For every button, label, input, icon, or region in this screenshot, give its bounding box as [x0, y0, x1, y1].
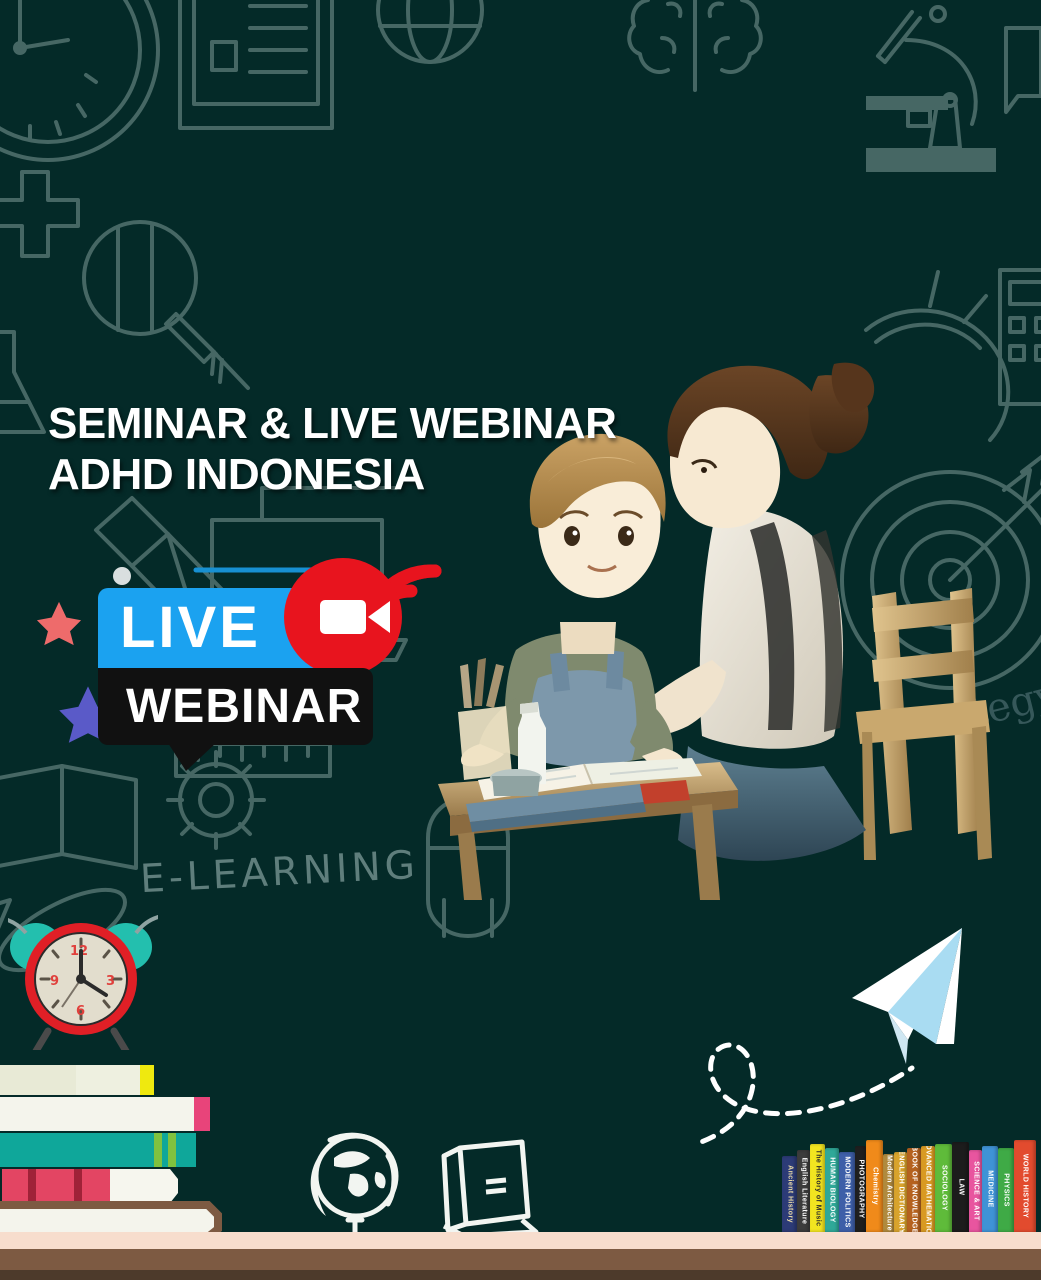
svg-text:6: 6: [76, 1004, 85, 1019]
calculator-doodle: [1000, 270, 1041, 404]
globe-and-book-chalk: [300, 1120, 560, 1245]
shelf-book: SOCIOLOGY: [935, 1144, 952, 1232]
speech-bubble-doodle: [1006, 28, 1041, 112]
pencil-cup: [458, 658, 512, 780]
headline-line-2: ADHD INDONESIA: [48, 449, 616, 500]
shelf-book-title: PHYSICS: [1003, 1173, 1010, 1207]
e-learning-chalk-text: E-LEARNING: [139, 843, 420, 903]
book-stack-item-1: [0, 1065, 154, 1095]
clipboard-doodle: [180, 0, 332, 128]
shelf-book: Ancient History: [782, 1156, 797, 1232]
shelf-book-title: WORLD HISTORY: [1022, 1154, 1029, 1218]
magnifying-glass-doodle: [84, 222, 248, 388]
badge-live-label: LIVE: [98, 599, 261, 657]
shelf-book-title: HUMAN BIOLOGY: [829, 1157, 836, 1222]
shelf-book-title: LAW: [957, 1179, 964, 1196]
svg-text:9: 9: [50, 974, 59, 989]
globe-continents: [334, 1151, 386, 1196]
shelf-book-title: MODERN POLITICS: [844, 1156, 851, 1227]
shelf-book-title: Ancient History: [786, 1165, 793, 1223]
shelf-book-title: ENGLISH DICTIONARY: [897, 1152, 904, 1232]
book-stack-item-4: [2, 1169, 178, 1203]
shelf-book-title: SOCIOLOGY: [940, 1165, 947, 1211]
badge-webinar-bar: WEBINAR: [98, 668, 373, 745]
alarm-clock-icon: 12 3 6 9: [8, 915, 158, 1050]
shelf-book: PHYSICS: [998, 1148, 1014, 1232]
shelf-book-title: Modern Architecture: [885, 1155, 892, 1231]
headline-line-1: SEMINAR & LIVE WEBINAR: [48, 399, 616, 448]
badge-speech-tail: [168, 743, 216, 771]
shelf-book-title: Chemistry: [871, 1167, 878, 1205]
shelf-book: WORLD HISTORY: [1014, 1140, 1036, 1232]
brain-doodle: [629, 0, 761, 90]
camera-lens: [368, 601, 390, 633]
book-doodle: [0, 766, 136, 868]
small-pot: [490, 769, 542, 796]
book-stack: [0, 1055, 255, 1235]
shelf-book-title: BOOK OF KNOWLEDGE: [911, 1148, 918, 1232]
shelf-book: ENGLISH DICTIONARY: [894, 1152, 907, 1232]
shelf-book: SCIENCE & ART: [969, 1150, 982, 1232]
book-stack-item-2: [0, 1097, 210, 1131]
shelf-book: MEDICINE: [982, 1146, 998, 1232]
shelf-book: BOOK OF KNOWLEDGE: [907, 1148, 921, 1232]
shelf-book-title: MEDICINE: [987, 1170, 994, 1207]
book-stack-item-5: [0, 1205, 218, 1235]
page-title: SEMINAR & LIVE WEBINAR ADHD INDONESIA: [48, 398, 616, 500]
red-star-icon: [36, 600, 82, 646]
shelf-book: PHOTOGRAPHY: [855, 1146, 866, 1232]
shelf-book: ADVANCED MATHEMATICS: [921, 1146, 935, 1232]
shelf-book-title: SCIENCE & ART: [972, 1161, 979, 1220]
standing-book-icon: [444, 1142, 536, 1236]
shelf-shadow: [0, 1270, 1041, 1280]
shelf-top-surface: [0, 1232, 1041, 1249]
book-stack-item-3: [0, 1133, 196, 1167]
wall-clock-doodle: [0, 0, 158, 160]
shelf-book: HUMAN BIOLOGY: [825, 1148, 839, 1232]
paper-airplane-icon: [700, 920, 1041, 1160]
shelf-book: Chemistry: [866, 1140, 883, 1232]
shelf-book-row: Ancient HistoryEnglish LiteratureThe His…: [782, 1140, 1041, 1232]
shelf-book-title: PHOTOGRAPHY: [857, 1159, 864, 1218]
shelf-book-title: The History of Music: [814, 1150, 821, 1227]
shelf-book: LAW: [952, 1142, 969, 1232]
chair: [856, 588, 992, 860]
shelf-book-title: ADVANCED MATHEMATICS: [925, 1146, 932, 1232]
svg-text:3: 3: [106, 974, 115, 989]
badge-webinar-label: WEBINAR: [98, 683, 362, 731]
shelf-book: Modern Architecture: [883, 1154, 894, 1232]
shelf-book-title: English Literature: [800, 1158, 807, 1225]
globe-doodle: [378, 0, 482, 62]
poster-canvas: rategy: [0, 0, 1041, 1280]
microscope-doodle: [866, 7, 996, 172]
shelf-book: The History of Music: [810, 1144, 825, 1232]
shelf-book: English Literature: [797, 1150, 810, 1232]
shelf-book: MODERN POLITICS: [839, 1152, 855, 1232]
flask-doodle: [0, 332, 44, 432]
camera-body: [320, 600, 366, 634]
plus-sign-doodle: [0, 172, 78, 256]
airplane-trail: [700, 1045, 912, 1152]
video-camera-icon: [284, 558, 402, 676]
live-webinar-badge[interactable]: LIVE WEBINAR: [98, 588, 398, 773]
shelf-body: [0, 1249, 1041, 1270]
